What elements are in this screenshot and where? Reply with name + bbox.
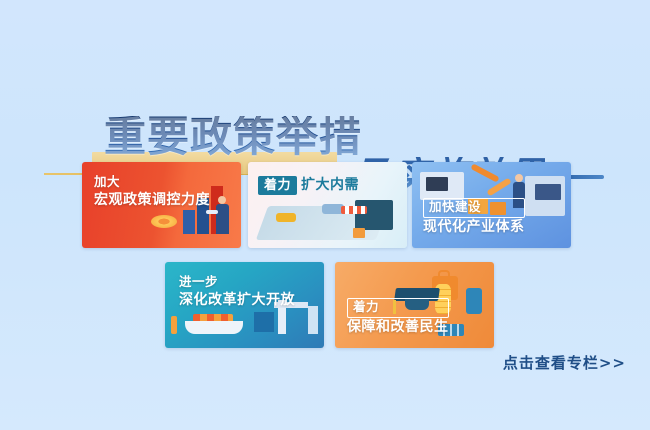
card-5-label: 着力 保障和改善民生: [347, 298, 449, 336]
policy-card-macro-regulation[interactable]: 加大 宏观政策调控力度: [82, 162, 241, 248]
package-icon: [353, 228, 365, 238]
container-icon: [254, 312, 274, 332]
policy-card-reform-opening[interactable]: 进一步 深化改革扩大开放: [165, 262, 324, 348]
car-icon: [276, 213, 296, 222]
banner-title-block: 重要政策举措 及实施效果: [0, 56, 650, 151]
medicine-bottle-icon: [466, 288, 482, 314]
policy-banner: 重要政策举措 及实施效果 加大 宏观政策调控力度 着力扩大内需: [0, 0, 650, 430]
bar-chart-icon: [183, 210, 195, 234]
person-icon: [218, 196, 226, 204]
card-1-label-line-2: 宏观政策调控力度: [94, 191, 210, 209]
policy-card-expand-demand[interactable]: 着力扩大内需: [248, 162, 407, 248]
coin-ring-icon: [151, 215, 177, 228]
card-3-label: 加快建设 现代化产业体系: [423, 198, 525, 236]
page-title-line-1: 重要政策举措: [104, 116, 362, 158]
card-5-label-line-1: 着力: [347, 298, 449, 318]
view-column-link[interactable]: 点击查看专栏>>: [503, 352, 626, 373]
card-1-label-line-1: 加大: [94, 174, 210, 191]
shop-icon: [355, 200, 393, 230]
card-3-label-line-2: 现代化产业体系: [423, 218, 525, 236]
robot-arm-icon: [486, 178, 511, 197]
factory-machine-icon: [535, 184, 561, 200]
policy-card-modern-industry[interactable]: 加快建设 现代化产业体系: [412, 162, 571, 248]
cargo-ship-icon: [185, 321, 243, 334]
card-1-label: 加大 宏观政策调控力度: [94, 174, 210, 209]
building-icon: [308, 306, 318, 334]
worker-icon: [515, 174, 523, 182]
card-4-label: 进一步 深化改革扩大开放: [179, 274, 295, 309]
card-2-label-line-1: 着力: [258, 176, 297, 195]
clipboard-icon: [206, 210, 218, 214]
shop-awning-icon: [341, 206, 367, 214]
card-5-label-line-2: 保障和改善民生: [347, 318, 449, 336]
card-2-label-line-2: 扩大内需: [301, 177, 359, 193]
robot-arm-icon: [470, 163, 499, 182]
person-icon: [216, 204, 229, 234]
card-3-label-line-1: 加快建设: [423, 198, 525, 218]
monitor-icon: [426, 177, 448, 191]
building-icon: [171, 316, 177, 334]
card-2-label: 着力扩大内需: [258, 176, 359, 195]
card-4-label-line-1: 进一步: [179, 274, 295, 291]
policy-card-livelihood[interactable]: 着力 保障和改善民生: [335, 262, 494, 348]
card-4-label-line-2: 深化改革扩大开放: [179, 291, 295, 309]
